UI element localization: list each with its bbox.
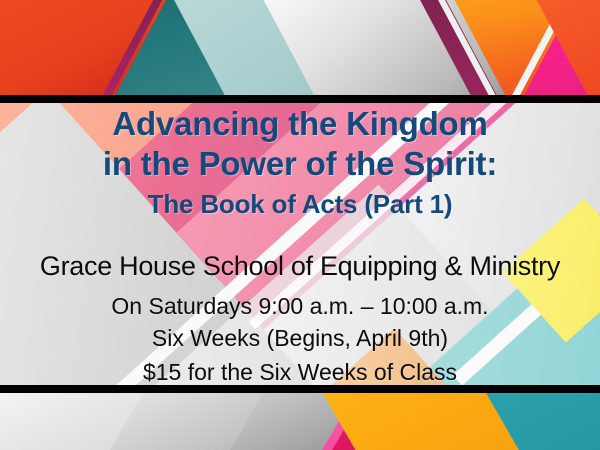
title-line-2: in the Power of the Spirit: (0, 145, 600, 183)
divider-bar-top (0, 95, 600, 103)
schedule-time: On Saturdays 9:00 a.m. – 10:00 a.m. (0, 293, 600, 320)
divider-bar-bottom (0, 385, 600, 393)
top-decorative-band (0, 0, 600, 95)
bottom-decorative-band (0, 393, 600, 450)
subtitle-book-of-acts: The Book of Acts (Part 1) (0, 189, 600, 220)
title-line-1: Advancing the Kingdom (0, 105, 600, 143)
organization-name: Grace House School of Equipping & Minist… (0, 251, 600, 282)
poster-text-layer: Advancing the Kingdom in the Power of th… (0, 103, 600, 385)
course-price: $15 for the Six Weeks of Class (0, 359, 600, 386)
flyer-poster: Advancing the Kingdom in the Power of th… (0, 0, 600, 450)
course-duration: Six Weeks (Begins, April 9th) (0, 325, 600, 352)
